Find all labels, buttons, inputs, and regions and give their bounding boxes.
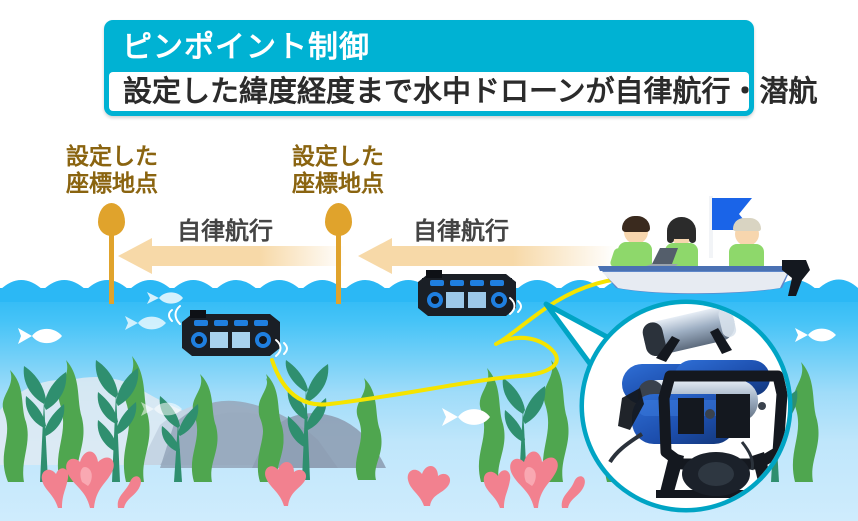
autonomous-nav-label-2: 自律航行 xyxy=(413,211,509,246)
pin-stem-2 xyxy=(336,232,341,304)
banner-subtitle: 設定した緯度経度まで水中ドローンが自律航行・潜航 xyxy=(123,75,818,109)
coral-left xyxy=(38,438,148,508)
underwater-drone-submerged xyxy=(182,308,280,360)
pin-stem-1 xyxy=(109,232,114,304)
title-banner: ピンポイント制御 設定した緯度経度まで水中ドローンが自律航行・潜航 xyxy=(104,20,754,116)
coordinate-label-2: 設定した 座標地点 xyxy=(278,143,398,197)
autonomous-nav-label-1: 自律航行 xyxy=(177,211,273,246)
motion-lines-right-2 xyxy=(272,338,296,362)
coral-mid xyxy=(250,448,320,506)
motion-lines-right xyxy=(506,296,530,318)
infographic-canvas: 設定した 座標地点 設定した 座標地点 自律航行 自律航行 ピンポイント制御 設… xyxy=(0,0,858,521)
motion-lines-left xyxy=(164,302,186,328)
underwater-drone-surface xyxy=(418,268,516,320)
coordinate-label-1: 設定した 座標地点 xyxy=(52,143,172,197)
underwater-drone-photo xyxy=(582,302,790,510)
banner-subtitle-box: 設定した緯度経度まで水中ドローンが自律航行・潜航 xyxy=(109,72,749,111)
coral-mid-2 xyxy=(392,448,462,506)
banner-title: ピンポイント制御 xyxy=(122,26,370,70)
survey-boat xyxy=(596,196,811,296)
